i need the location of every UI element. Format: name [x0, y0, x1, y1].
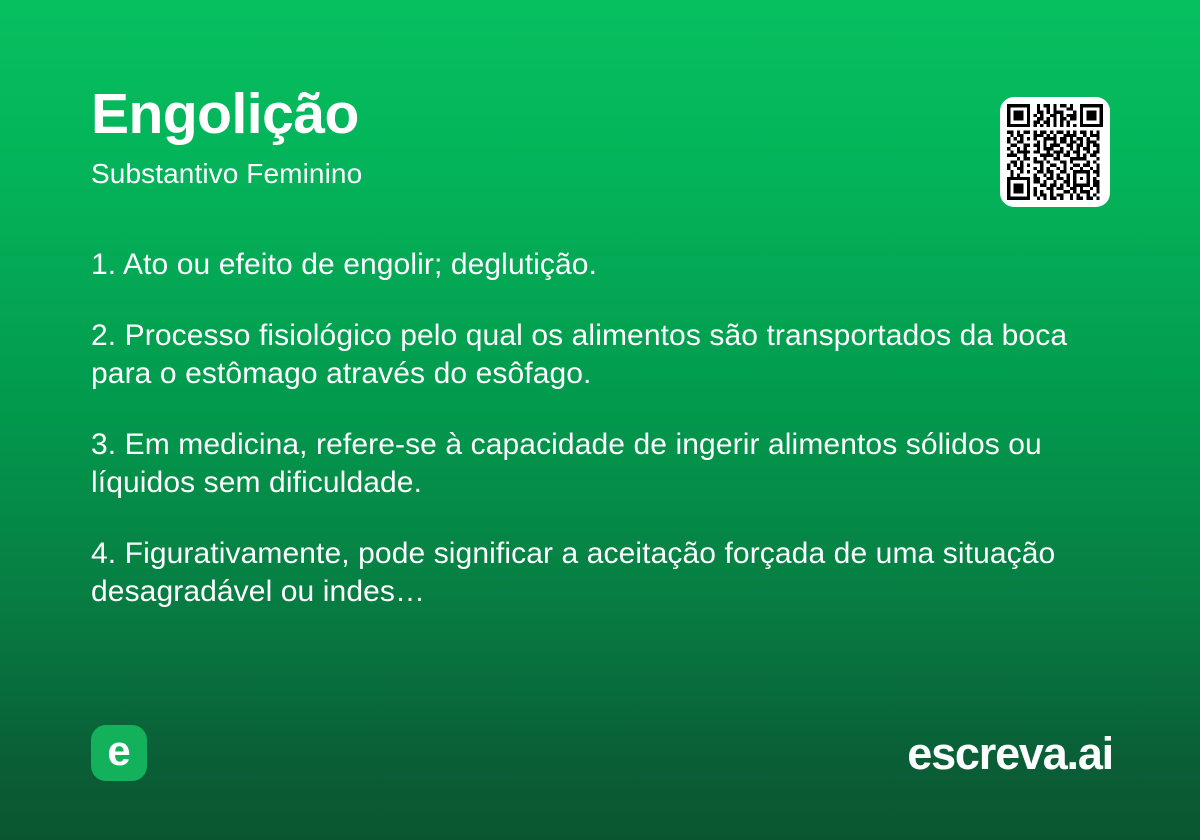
dictionary-card: Engolição Substantivo Feminino — [0, 0, 1200, 840]
definition-item: 3. Em medicina, refere-se à capacidade d… — [91, 426, 1091, 502]
part-of-speech-label: Substantivo Feminino — [91, 160, 1110, 188]
page-title: Engolição — [91, 86, 1110, 143]
brand-logo-letter: e — [107, 730, 130, 772]
qr-code[interactable] — [1000, 97, 1110, 207]
card-footer: e escreva.ai — [91, 725, 1113, 781]
brand-wordmark: escreva.ai — [907, 731, 1113, 776]
definition-item: 4. Figurativamente, pode significar a ac… — [91, 535, 1091, 611]
definition-list: 1. Ato ou efeito de engolir; deglutição.… — [91, 246, 1091, 611]
qr-code-icon — [1007, 104, 1103, 200]
definition-item: 1. Ato ou efeito de engolir; deglutição. — [91, 246, 1091, 284]
definition-item: 2. Processo fisiológico pelo qual os ali… — [91, 317, 1091, 393]
brand-logo-badge: e — [91, 725, 147, 781]
